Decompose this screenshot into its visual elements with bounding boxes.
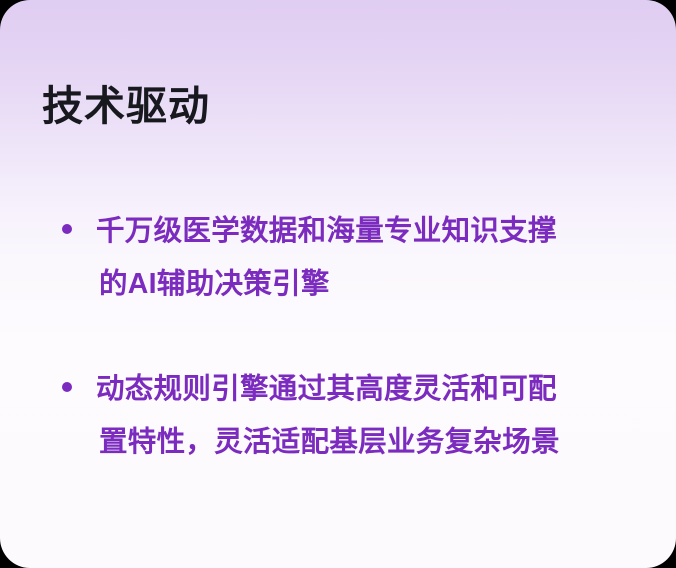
page-title: 技术驱动 [42, 82, 210, 130]
list-item-line: 置特性，灵活适配基层业务复杂场景 [99, 416, 650, 469]
list-item: 动态规则引擎通过其高度灵活和可配 置特性，灵活适配基层业务复杂场景 [58, 363, 650, 469]
content-card: 技术驱动 千万级医学数据和海量专业知识支撑 的AI辅助决策引擎 动态规则引擎通过… [0, 0, 676, 568]
list-item-line: 千万级医学数据和海量专业知识支撑 [96, 205, 650, 258]
list-item-text: 动态规则引擎通过其高度灵活和可配 置特性，灵活适配基层业务复杂场景 [96, 363, 650, 469]
list-item-text: 千万级医学数据和海量专业知识支撑 的AI辅助决策引擎 [96, 205, 650, 311]
list-item-line: 的AI辅助决策引擎 [99, 258, 650, 311]
bullet-list: 千万级医学数据和海量专业知识支撑 的AI辅助决策引擎 动态规则引擎通过其高度灵活… [58, 205, 650, 469]
list-item: 千万级医学数据和海量专业知识支撑 的AI辅助决策引擎 [58, 205, 650, 311]
list-item-line: 动态规则引擎通过其高度灵活和可配 [96, 363, 650, 416]
bullet-dot-icon [62, 224, 72, 234]
bullet-dot-icon [62, 382, 72, 392]
